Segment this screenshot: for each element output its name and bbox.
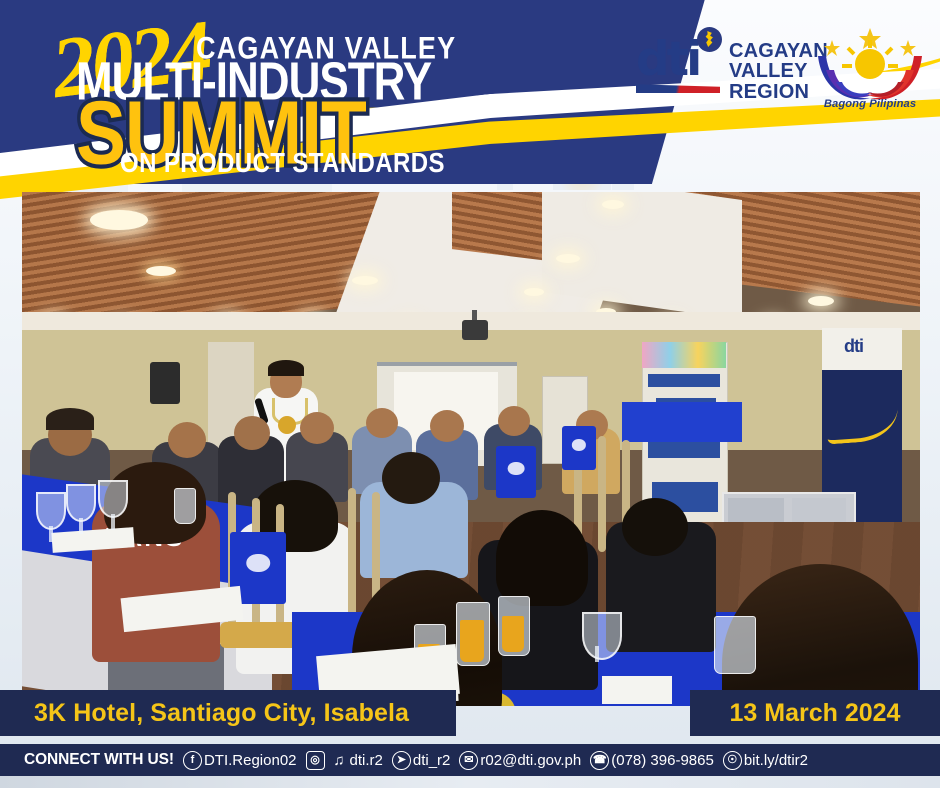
social-website[interactable]: ☉ bit.ly/dtir2 [723,751,808,770]
email-icon: ✉ [459,751,478,770]
facebook-icon: f [183,751,202,770]
connect-bar: CONNECT WITH US! f DTI.Region02 ◎ ♫ dti.… [0,744,940,776]
bottom-strip [0,776,940,788]
social-instagram[interactable]: ◎ [306,751,327,770]
twitter-handle: dti_r2 [413,752,451,769]
globe-icon: ☉ [723,751,742,770]
event-photo: dti VANS [22,192,920,706]
dti-mark: dti [636,38,720,93]
email-address: r02@dti.gov.ph [480,752,581,769]
dti-logo: dti CAGAYAN VALLEY REGION [636,38,828,102]
tiktok-handle: dti.r2 [350,752,383,769]
social-twitter[interactable]: ➤ dti_r2 [392,751,451,770]
bagong-pilipinas-icon [812,26,928,106]
bagong-pilipinas-logo: Bagong Pilipinas [812,26,928,138]
venue-text: 3K Hotel, Santiago City, Isabela [0,699,409,728]
phone-icon: ☎ [590,751,609,770]
website-url: bit.ly/dtir2 [744,752,808,769]
social-facebook[interactable]: f DTI.Region02 [183,751,297,770]
connect-label: CONNECT WITH US! [0,751,174,769]
tiktok-icon: ♫ [331,752,348,769]
facebook-handle: DTI.Region02 [204,752,297,769]
dti-rule [636,84,720,93]
venue-bar: 3K Hotel, Santiago City, Isabela [0,690,456,736]
poster-canvas: 2024 CAGAYAN VALLEY MULTI-INDUSTRY SUMMI… [0,0,940,788]
date-text: 13 March 2024 [730,699,901,728]
date-bar: 13 March 2024 [690,690,940,736]
instagram-icon: ◎ [306,751,325,770]
bagong-pilipinas-caption: Bagong Pilipinas [814,98,926,110]
title-line-on-product-standards: ON PRODUCT STANDARDS [120,148,445,180]
phone-number: (078) 396-9865 [611,752,714,769]
dti-globe-icon [697,27,722,52]
social-phone[interactable]: ☎ (078) 396-9865 [590,751,714,770]
social-email[interactable]: ✉ r02@dti.gov.ph [459,751,581,770]
social-tiktok[interactable]: ♫ dti.r2 [331,752,383,769]
twitter-icon: ➤ [392,751,411,770]
